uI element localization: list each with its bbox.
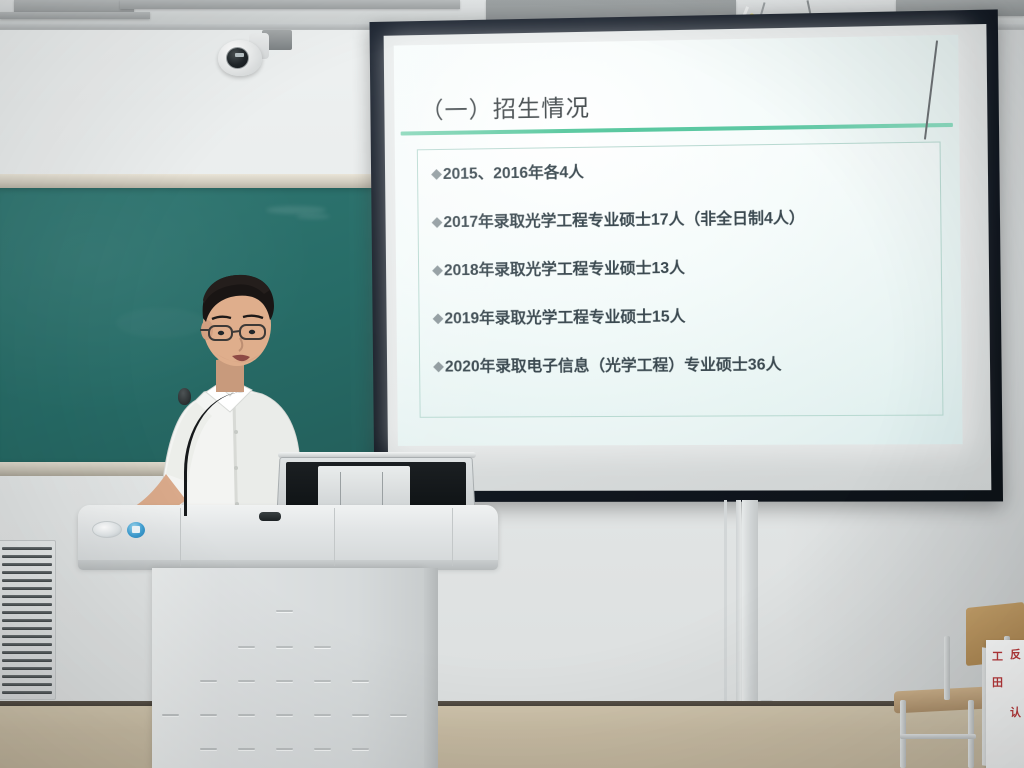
list-item: ◆ 2019年录取光学工程专业硕士15人 xyxy=(433,301,945,330)
list-item-label: 2015、2016年各4人 xyxy=(443,160,584,184)
ceiling-light-panel xyxy=(14,0,134,12)
microphone-base xyxy=(259,512,281,521)
lecture-hall-scene: （一）招生情况 ◆ 2015、2016年各4人 ◆ 2017年录取光学工程专业硕… xyxy=(0,0,1024,768)
sign-char: 认 xyxy=(1010,704,1021,720)
projection-screen: （一）招生情况 ◆ 2015、2016年各4人 ◆ 2017年录取光学工程专业硕… xyxy=(369,9,1003,502)
diamond-bullet-icon: ◆ xyxy=(433,309,444,326)
slide-bullet-list: ◆ 2015、2016年各4人 ◆ 2017年录取光学工程专业硕士17人（非全日… xyxy=(431,154,945,402)
list-item-label: 2019年录取光学工程专业硕士15人 xyxy=(444,304,685,328)
sticker-emblem-icon xyxy=(132,526,140,533)
list-item: ◆ 2018年录取光学工程专业硕士13人 xyxy=(432,252,944,282)
ceiling-beam xyxy=(120,0,460,9)
panel-divider xyxy=(382,472,383,506)
podium-seam xyxy=(452,508,453,566)
wall-vent xyxy=(0,540,56,700)
chair-rail xyxy=(900,734,976,739)
diamond-bullet-icon: ◆ xyxy=(431,164,442,181)
podium-seam xyxy=(180,508,181,566)
panel-divider xyxy=(340,472,341,506)
podium-side-panel xyxy=(424,568,438,768)
sign-char: 反 xyxy=(1010,646,1021,662)
diamond-bullet-icon: ◆ xyxy=(432,261,443,278)
list-item: ◆ 2017年录取光学工程专业硕士17人（非全日制4人） xyxy=(432,203,944,233)
sign-char: 田 xyxy=(992,674,1003,690)
podium-seam xyxy=(334,508,335,566)
slide-title: （一）招生情况 xyxy=(420,88,590,125)
diamond-bullet-icon: ◆ xyxy=(432,213,443,230)
microphone-icon xyxy=(178,388,191,405)
list-item: ◆ 2020年录取电子信息（光学工程）专业硕士36人 xyxy=(433,350,945,378)
blackboard xyxy=(0,188,382,462)
handwritten-sign: 工 反 田 认 xyxy=(986,640,1024,768)
wall-seam xyxy=(724,500,727,730)
list-item-label: 2018年录取光学工程专业硕士13人 xyxy=(444,256,685,281)
sign-char: 工 xyxy=(992,648,1003,664)
camera-lens-icon xyxy=(226,47,249,69)
list-item-label: 2020年录取电子信息（光学工程）专业硕士36人 xyxy=(445,352,782,376)
list-item-label: 2017年录取光学工程专业硕士17人（非全日制4人） xyxy=(443,206,805,233)
blackboard-top-rail xyxy=(0,174,382,188)
ceiling-light-panel xyxy=(0,12,150,19)
slide-title-rule xyxy=(401,123,953,136)
diamond-bullet-icon: ◆ xyxy=(433,357,444,374)
podium-sticker-white xyxy=(92,521,122,538)
podium-front-panel xyxy=(152,568,424,768)
projected-slide: （一）招生情况 ◆ 2015、2016年各4人 ◆ 2017年录取光学工程专业硕… xyxy=(394,35,963,446)
chair-leg xyxy=(944,636,950,700)
camera-indicator-icon xyxy=(235,53,244,57)
podium-control-panel[interactable] xyxy=(318,466,410,510)
